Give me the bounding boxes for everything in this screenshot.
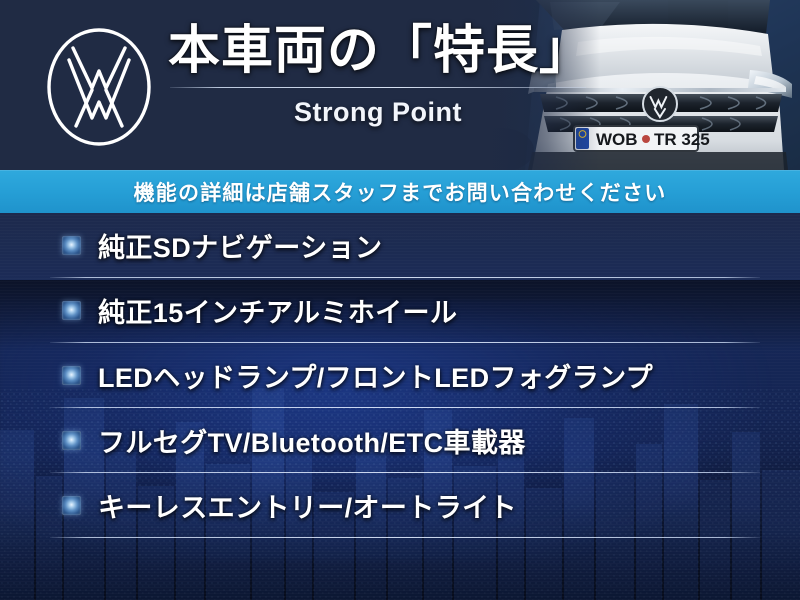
header-title-block: 本車両の「特長」 Strong Point [168, 22, 588, 128]
list-item: キーレスエントリー/オートライト [0, 473, 800, 538]
glowing-square-bullet-icon [62, 301, 81, 320]
list-item: 純正SDナビゲーション [0, 213, 800, 278]
feature-label: LEDヘッドランプ/フロントLEDフォグランプ [98, 356, 653, 395]
list-item: LEDヘッドランプ/フロントLEDフォグランプ [0, 343, 800, 408]
title-divider [170, 87, 586, 88]
info-banner: 機能の詳細は店舗スタッフまでお問い合わせください [0, 170, 800, 213]
glowing-square-bullet-icon [62, 236, 81, 255]
list-divider [50, 537, 760, 538]
info-banner-text: 機能の詳細は店舗スタッフまでお問い合わせください [134, 177, 667, 207]
feature-list: 純正SDナビゲーション 純正15インチアルミホイール LEDヘッドランプ/フロン… [0, 213, 800, 538]
list-item: 純正15インチアルミホイール [0, 278, 800, 343]
svg-text:TR 325: TR 325 [654, 130, 710, 149]
glowing-square-bullet-icon [62, 366, 81, 385]
page-title: 本車両の「特長」 [168, 22, 588, 80]
slide-header: WOB TR 325 本車両の「特長」 [0, 0, 800, 170]
feature-label: キーレスエントリー/オートライト [98, 486, 517, 525]
glowing-square-bullet-icon [62, 496, 81, 515]
svg-text:WOB: WOB [596, 130, 638, 149]
vehicle-feature-slide: WOB TR 325 本車両の「特長」 [0, 0, 800, 600]
feature-label: フルセグTV/Bluetooth/ETC車載器 [98, 421, 526, 460]
glowing-square-bullet-icon [62, 431, 81, 450]
volkswagen-logo-icon [40, 24, 158, 150]
feature-label: 純正15インチアルミホイール [98, 291, 457, 330]
feature-label: 純正SDナビゲーション [98, 226, 382, 265]
list-item: フルセグTV/Bluetooth/ETC車載器 [0, 408, 800, 473]
page-subtitle: Strong Point [168, 97, 588, 128]
